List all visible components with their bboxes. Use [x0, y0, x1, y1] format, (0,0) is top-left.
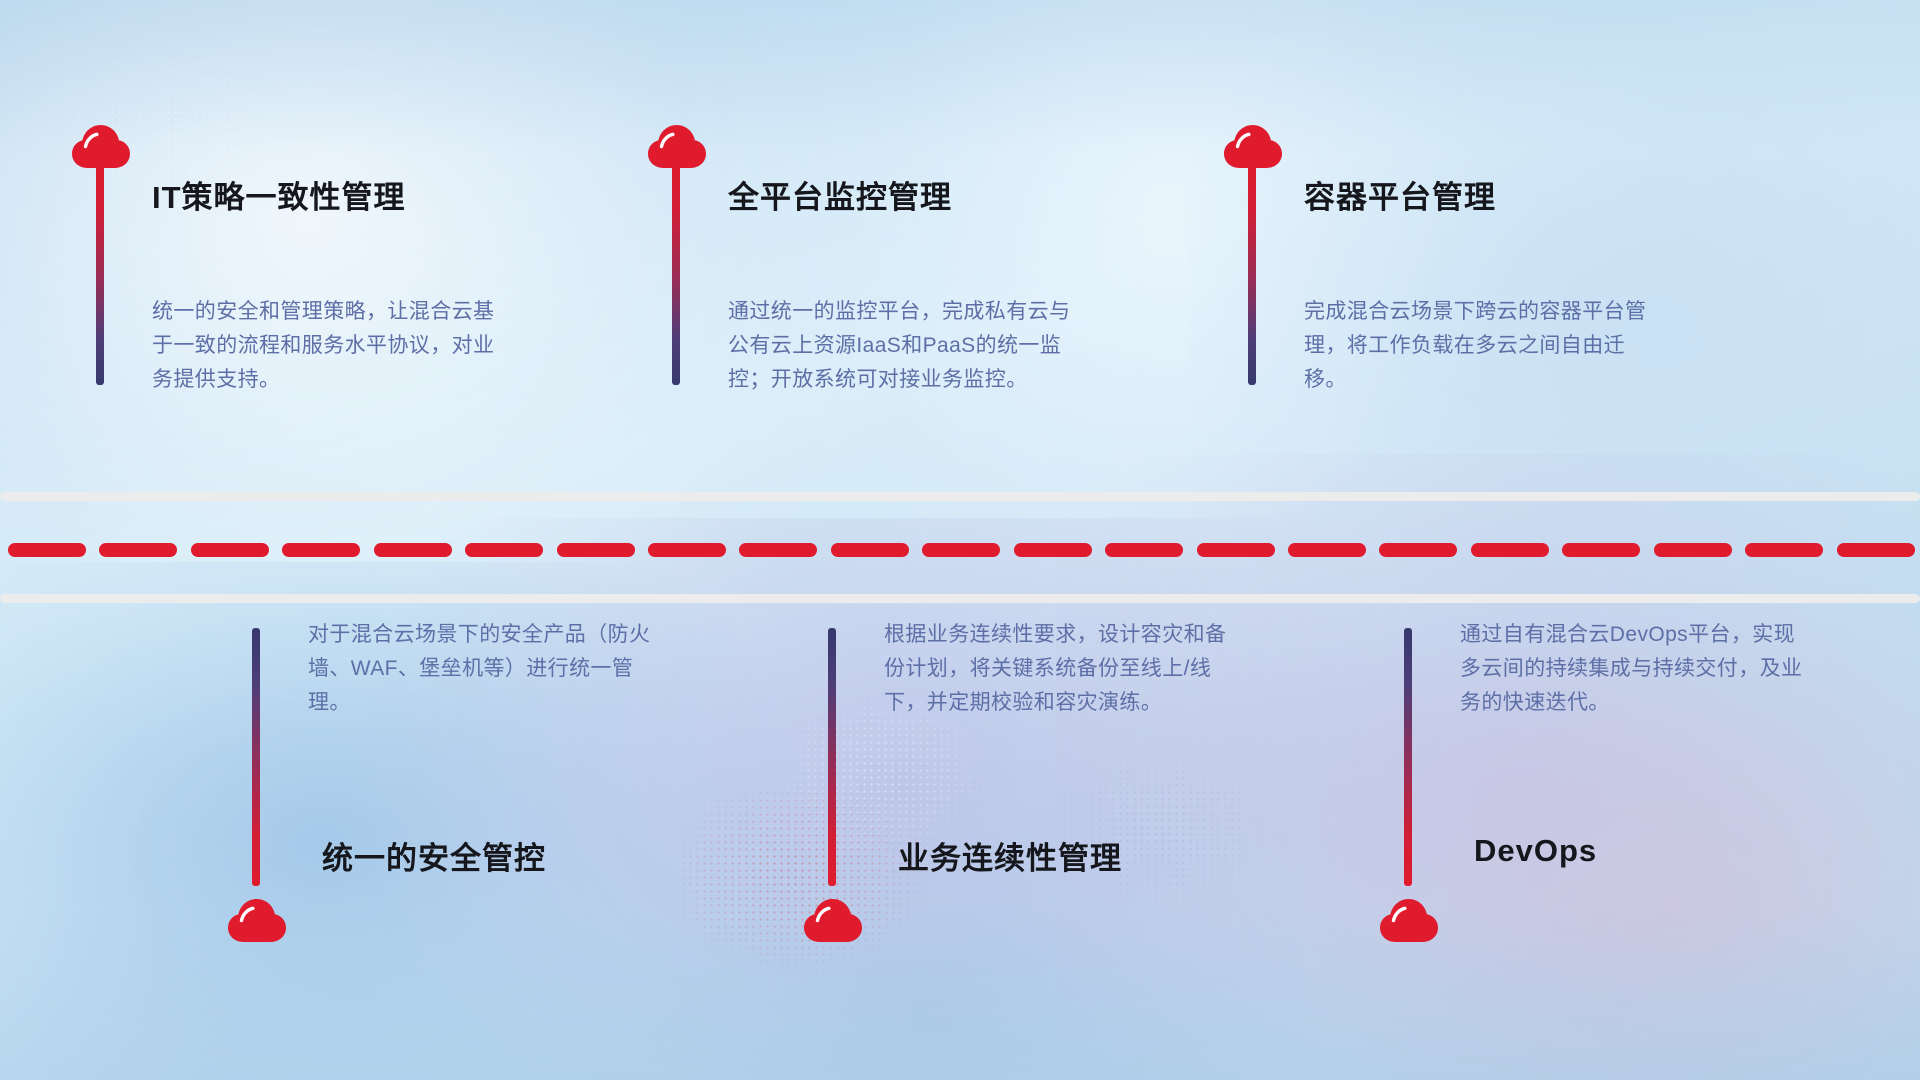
column-body: 根据业务连续性要求，设计容灾和备份计划，将关键系统备份至线上/线下，并定期校验和…	[884, 618, 1234, 720]
column-title: 全平台监控管理	[728, 172, 952, 217]
road-dash	[557, 543, 635, 557]
road-dash	[1197, 543, 1275, 557]
cloud-icon	[1378, 894, 1440, 944]
column-body: 通过统一的监控平台，完成私有云与公有云上资源IaaS和PaaS的统一监控；开放系…	[728, 295, 1078, 397]
column-title: 统一的安全管控	[322, 833, 546, 878]
road-dash	[8, 543, 86, 557]
column-title: IT策略一致性管理	[152, 172, 406, 217]
road-dash	[374, 543, 452, 557]
column-stem	[96, 160, 104, 385]
cloud-icon	[226, 894, 288, 944]
column-stem	[672, 160, 680, 385]
road-dash	[191, 543, 269, 557]
road-dash	[1288, 543, 1366, 557]
column-title: 容器平台管理	[1304, 172, 1496, 217]
column-title: DevOps	[1474, 833, 1597, 869]
road-dash	[1654, 543, 1732, 557]
decorative-dot-field-top-left	[60, 60, 360, 280]
road-line-top	[0, 492, 1920, 501]
road-dash	[1014, 543, 1092, 557]
column-body: 统一的安全和管理策略，让混合云基于一致的流程和服务水平协议，对业务提供支持。	[152, 295, 502, 397]
road-dash	[1562, 543, 1640, 557]
column-stem	[252, 628, 260, 886]
infographic-canvas: IT策略一致性管理 统一的安全和管理策略，让混合云基于一致的流程和服务水平协议，…	[0, 0, 1920, 1080]
road-dash	[648, 543, 726, 557]
column-stem	[1404, 628, 1412, 886]
road-line-bottom	[0, 594, 1920, 603]
road-dash	[99, 543, 177, 557]
road-dash	[1837, 543, 1915, 557]
column-stem	[828, 628, 836, 886]
road-dash	[1471, 543, 1549, 557]
road-dash	[1105, 543, 1183, 557]
column-body: 完成混合云场景下跨云的容器平台管理，将工作负载在多云之间自由迁移。	[1304, 295, 1654, 397]
road-dash	[1745, 543, 1823, 557]
road-dash	[1379, 543, 1457, 557]
column-stem	[1248, 160, 1256, 385]
road-dash	[831, 543, 909, 557]
road-dash	[922, 543, 1000, 557]
column-body: 通过自有混合云DevOps平台，实现多云间的持续集成与持续交付，及业务的快速迭代…	[1460, 618, 1810, 720]
decorative-dot-field-two	[680, 790, 940, 980]
road-dash	[739, 543, 817, 557]
road-dash	[282, 543, 360, 557]
decorative-dot-field-three	[1040, 740, 1280, 920]
road-center-dashes	[0, 543, 1920, 557]
road-dash	[465, 543, 543, 557]
column-body: 对于混合云场景下的安全产品（防火墙、WAF、堡垒机等）进行统一管理。	[308, 618, 658, 720]
cloud-icon	[802, 894, 864, 944]
column-title: 业务连续性管理	[898, 833, 1122, 878]
